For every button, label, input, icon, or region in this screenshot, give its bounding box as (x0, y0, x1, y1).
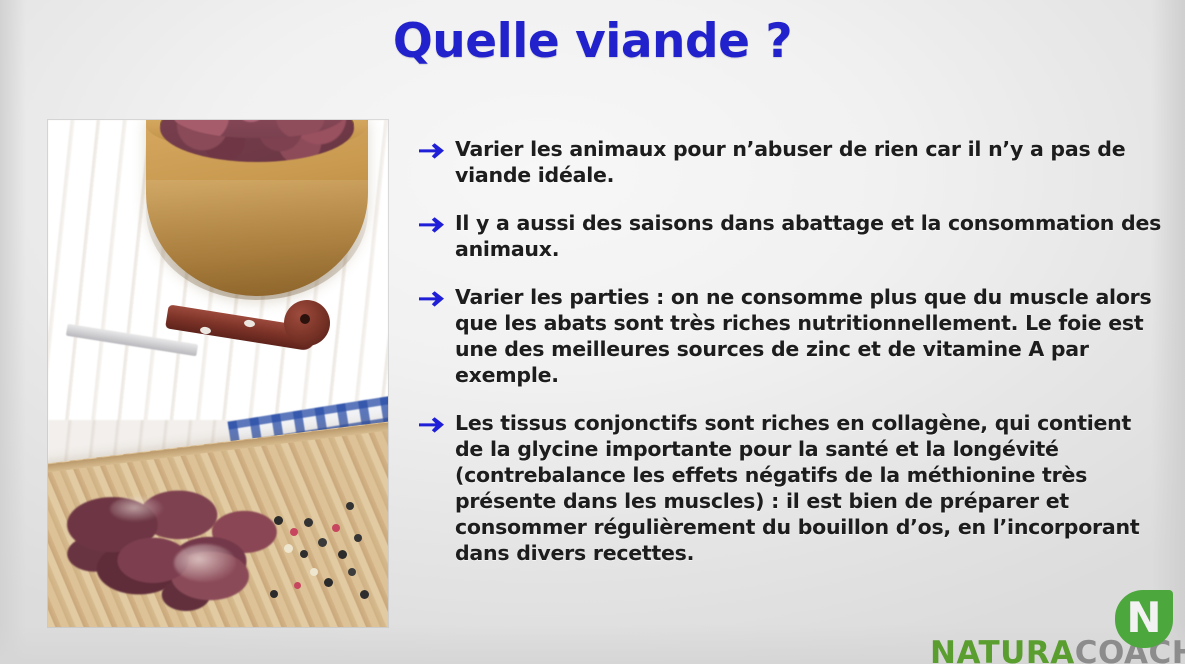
photo-peppercorn (360, 590, 369, 599)
photo-peppercorn (346, 502, 354, 510)
photo-knife-pommel-hole (300, 314, 310, 324)
slide-canvas: Quelle viande ? (0, 0, 1185, 664)
photo-peppercorn (332, 524, 340, 532)
photo-liver-highlight (110, 496, 164, 522)
list-item-text: Il y a aussi des saisons dans abattage e… (455, 210, 1163, 262)
naturacoach-logo: NATURACOACH N (930, 636, 1185, 664)
page-title: Quelle viande ? (0, 14, 1185, 69)
raw-liver-photo (48, 120, 388, 627)
photo-peppercorn (354, 534, 362, 542)
arrow-right-icon (418, 415, 448, 439)
photo-peppercorn (318, 538, 327, 547)
list-item-text: Varier les parties : on ne consomme plus… (455, 284, 1163, 388)
left-edge-shade (0, 0, 26, 664)
photo-peppercorn (310, 568, 318, 576)
photo-peppercorn (324, 578, 333, 587)
photo-peppercorn (284, 544, 293, 553)
list-item: Les tissus conjonctifs sont riches en co… (418, 410, 1163, 566)
photo-liver-highlight (174, 544, 236, 582)
list-item-text: Les tissus conjonctifs sont riches en co… (455, 410, 1163, 566)
bullet-list: Varier les animaux pour n’abuser de rien… (418, 136, 1163, 566)
list-item: Varier les parties : on ne consomme plus… (418, 284, 1163, 388)
photo-peppercorn (290, 528, 298, 536)
list-item: Varier les animaux pour n’abuser de rien… (418, 136, 1163, 188)
arrow-right-icon (418, 141, 448, 165)
list-item-text: Varier les animaux pour n’abuser de rien… (455, 136, 1163, 188)
photo-peppercorn (300, 550, 308, 558)
logo-badge: N (1115, 590, 1173, 648)
arrow-right-icon (418, 215, 448, 239)
photo-peppercorn (294, 582, 301, 589)
photo-peppercorn (274, 516, 283, 525)
arrow-right-icon (418, 289, 448, 313)
list-item: Il y a aussi des saisons dans abattage e… (418, 210, 1163, 262)
photo-peppercorn (348, 568, 356, 576)
logo-badge-letter: N (1126, 597, 1161, 639)
photo-peppercorn (304, 518, 313, 527)
logo-natura-text: NATURA (930, 635, 1075, 664)
photo-peppercorn (270, 590, 278, 598)
photo-peppercorn (338, 550, 347, 559)
